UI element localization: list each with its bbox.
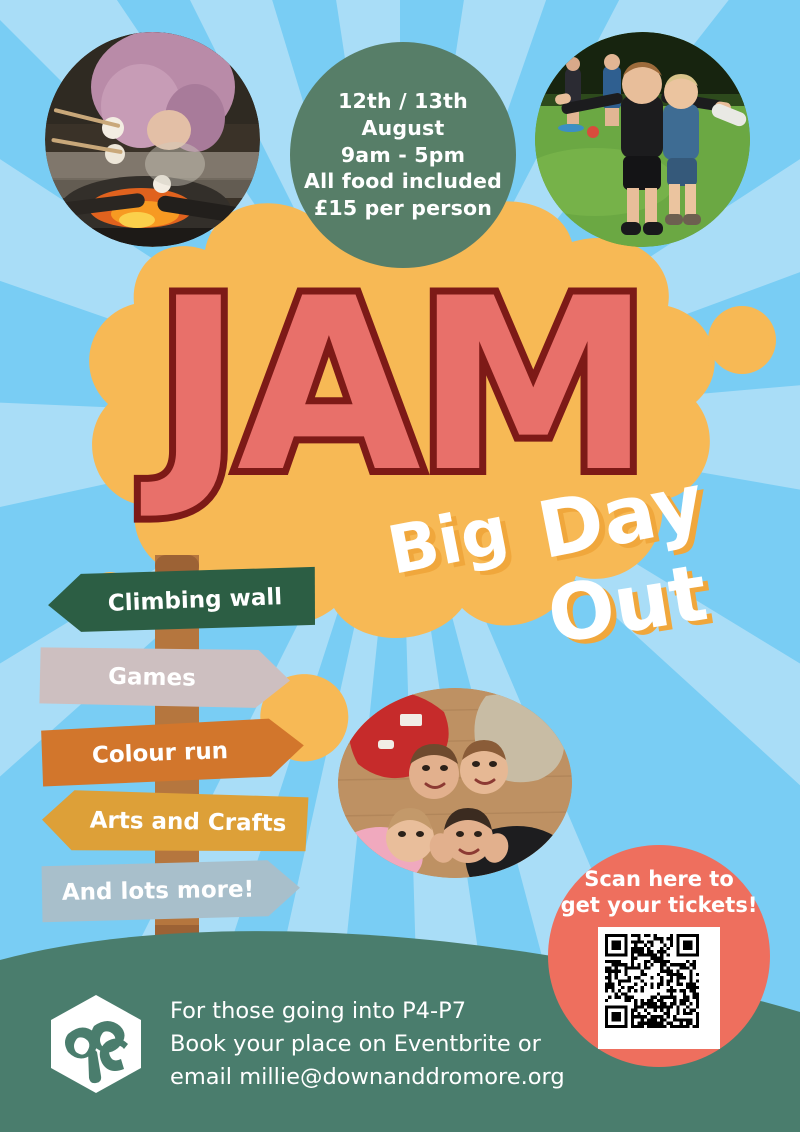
ddyc-logo — [44, 992, 148, 1096]
qr-heading-line2: get your tickets! — [561, 893, 758, 919]
qr-heading-line1: Scan here to — [584, 867, 734, 893]
qr-code[interactable] — [598, 927, 720, 1049]
poster-canvas: 12th / 13th August 9am - 5pm All food in… — [0, 0, 800, 1132]
footer-line-eligibility: For those going into P4-P7 — [170, 995, 590, 1028]
footer-line-booking: Book your place on Eventbrite or — [170, 1028, 590, 1061]
footer-info-text: For those going into P4-P7 Book your pla… — [170, 995, 590, 1094]
footer-line-email[interactable]: email millie@downanddromore.org — [170, 1061, 590, 1094]
